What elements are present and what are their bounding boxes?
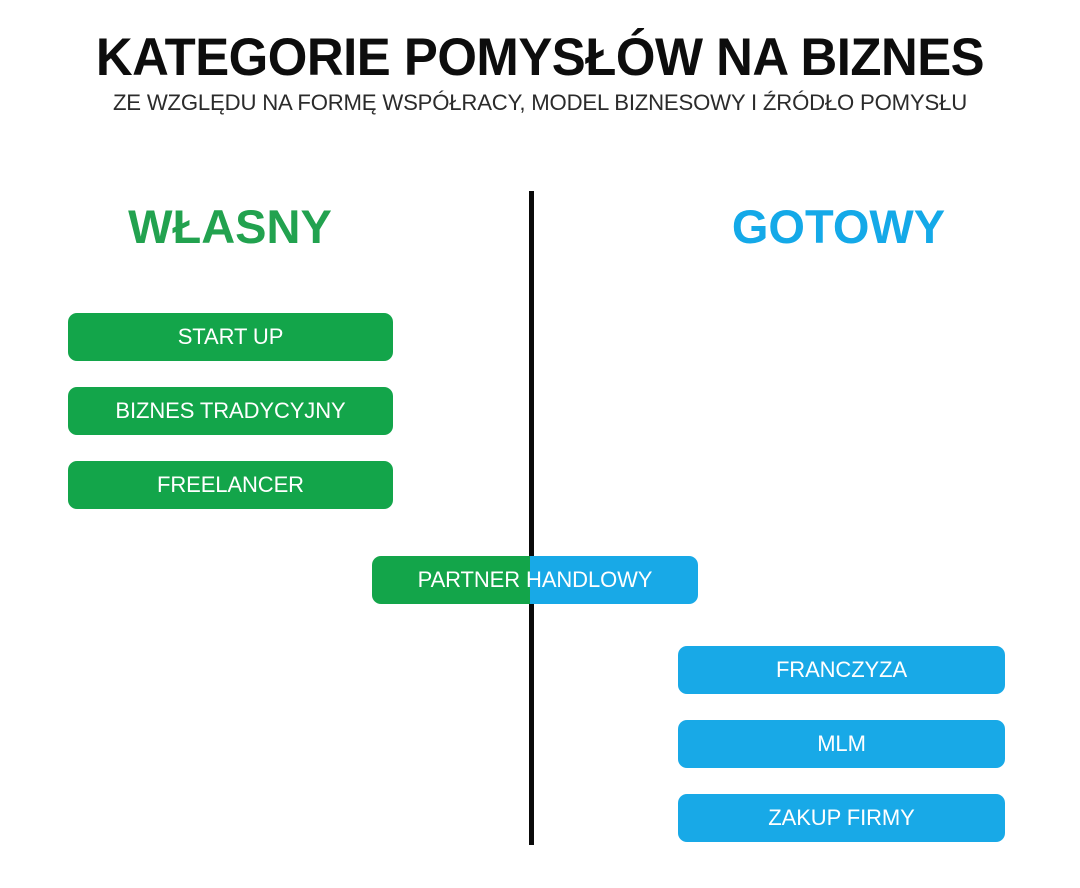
category-pill-mlm[interactable]: MLM bbox=[678, 720, 1005, 768]
header: KATEGORIE POMYSŁÓW NA BIZNES ZE WZGLĘDU … bbox=[0, 28, 1080, 118]
category-pill-start-up[interactable]: START UP bbox=[68, 313, 393, 361]
category-pill-franczyza[interactable]: FRANCZYZA bbox=[678, 646, 1005, 694]
page-title: KATEGORIE POMYSŁÓW NA BIZNES bbox=[22, 28, 1059, 88]
category-pill-partner-handlowy[interactable]: PARTNER HANDLOWY bbox=[372, 556, 698, 604]
category-pill-zakup-firmy[interactable]: ZAKUP FIRMY bbox=[678, 794, 1005, 842]
vertical-divider bbox=[529, 191, 534, 845]
category-pill-partner-handlowy-label: PARTNER HANDLOWY bbox=[372, 556, 698, 604]
page-subtitle: ZE WZGLĘDU NA FORMĘ WSPÓŁRACY, MODEL BIZ… bbox=[8, 88, 1072, 118]
column-heading-wlasny: WŁASNY bbox=[0, 198, 460, 256]
category-pill-biznes-tradycyjny[interactable]: BIZNES TRADYCYJNY bbox=[68, 387, 393, 435]
infographic-canvas: KATEGORIE POMYSŁÓW NA BIZNES ZE WZGLĘDU … bbox=[0, 0, 1080, 888]
column-heading-gotowy: GOTOWY bbox=[620, 198, 1057, 256]
category-pill-freelancer[interactable]: FREELANCER bbox=[68, 461, 393, 509]
